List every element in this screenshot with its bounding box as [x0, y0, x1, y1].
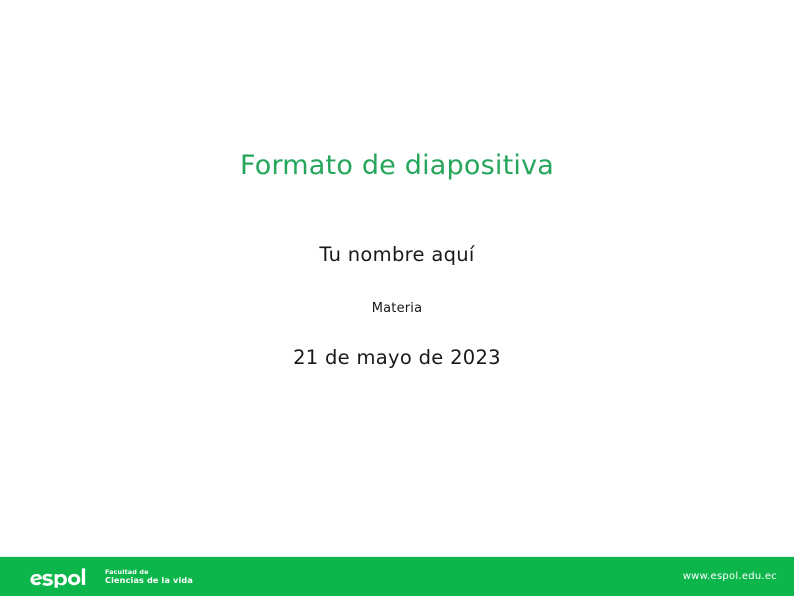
footer-website-url[interactable]: www.espol.edu.ec — [683, 571, 794, 582]
espol-logo-icon — [28, 566, 94, 588]
footer-bar: Facultad de Ciencias de la vida www.espo… — [0, 557, 794, 596]
slide-date: 21 de mayo de 2023 — [0, 316, 794, 369]
author-name: Tu nombre aquí — [0, 181, 794, 266]
page-title: Formato de diapositiva — [0, 150, 794, 181]
faculty-line-2: Ciencias de la vida — [105, 576, 193, 585]
faculty-name: Facultad de Ciencias de la vida — [94, 568, 193, 585]
presentation-slide: Formato de diapositiva Tu nombre aquí Ma… — [0, 0, 794, 596]
footer-branding: Facultad de Ciencias de la vida — [0, 566, 193, 588]
title-block: Formato de diapositiva Tu nombre aquí Ma… — [0, 150, 794, 369]
subject-name: Materia — [0, 266, 794, 316]
